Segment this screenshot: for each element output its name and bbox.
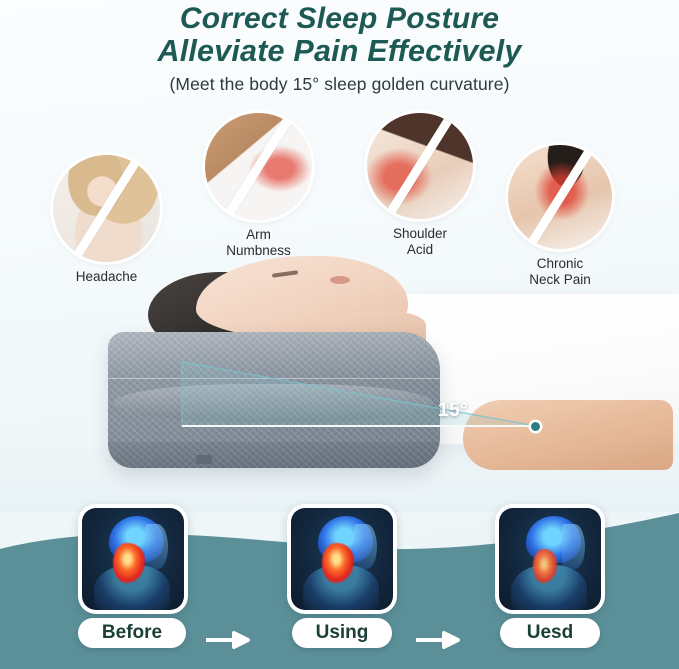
xray-neck-severe-pain-icon (82, 508, 184, 610)
arrow-before-to-using (204, 631, 258, 649)
headache-photo-icon (53, 155, 160, 262)
headline-line-2: Alleviate Pain Effectively (0, 35, 679, 68)
step-card-using[interactable] (287, 504, 397, 614)
xray-face-profile (354, 524, 376, 569)
page-subtitle: (Meet the body 15° sleep golden curvatur… (0, 74, 679, 95)
arrow-using-to-used (414, 631, 468, 649)
infographic-page: Correct Sleep Posture Alleviate Pain Eff… (0, 0, 679, 669)
angle-vertex-dot (531, 422, 540, 431)
page-title: Correct Sleep Posture Alleviate Pain Eff… (0, 2, 679, 68)
xray-neck-moderate-pain-icon (291, 508, 393, 610)
symptom-arm-numbness: Arm Numbness (205, 113, 312, 258)
xray-neck-mild-pain-icon (499, 508, 601, 610)
neck-pain-photo-icon (508, 145, 612, 249)
headline-line-1: Correct Sleep Posture (180, 2, 499, 35)
arm-numbness-photo-icon (205, 113, 312, 220)
step-card-before[interactable] (78, 504, 188, 614)
xray-face-profile (145, 524, 167, 569)
step-label-using[interactable]: Using (292, 618, 392, 648)
angle-label: 15° (438, 400, 468, 422)
step-label-before-fixed[interactable]: Before (78, 618, 186, 648)
angle-wedge-overlay (0, 250, 679, 512)
step-label-used[interactable]: Uesd (500, 618, 600, 648)
shoulder-acid-photo-icon (367, 113, 473, 219)
step-card-used[interactable] (495, 504, 605, 614)
xray-face-profile (562, 524, 584, 569)
symptom-shoulder-acid: Shoulder Acid (367, 113, 473, 257)
hero-sleeping-photo: 15° (0, 250, 679, 512)
